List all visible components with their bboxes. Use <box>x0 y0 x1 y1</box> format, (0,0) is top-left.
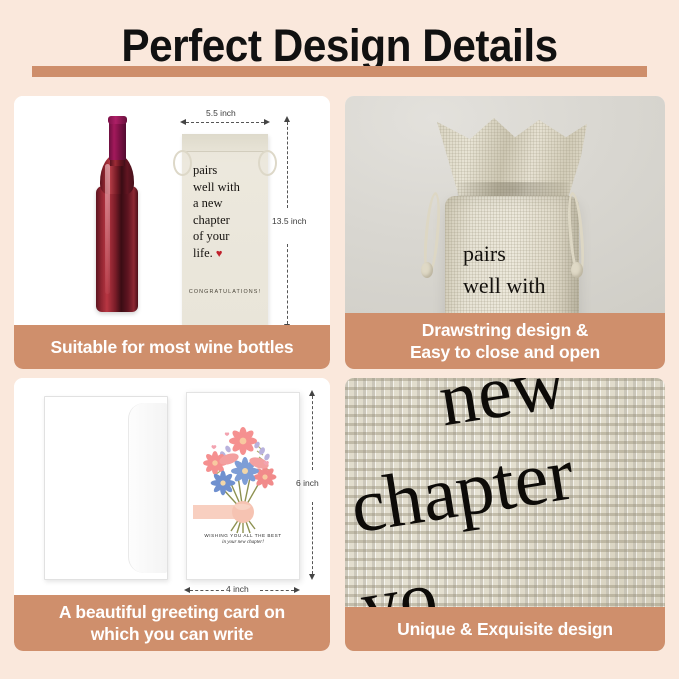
bag-printed-text: pairs well with a new chapter of your li… <box>193 162 260 262</box>
card-width-dimension-label: 4 inch <box>226 584 249 594</box>
card-height-dimension-label: 6 inch <box>296 478 319 488</box>
caption-line-1: Unique & Exquisite design <box>397 618 613 640</box>
card-height-dimension-line-upper <box>312 396 314 470</box>
bottle-body <box>96 186 138 312</box>
width-arrow-left-icon <box>180 119 186 125</box>
bag-text-line-2: well with <box>193 179 260 196</box>
floral-greeting-card: WISHING YOU ALL THE BEST in your new cha… <box>186 392 300 580</box>
height-dimension-line-lower <box>287 244 289 324</box>
linen-wine-bag-flat: pairs well with a new chapter of your li… <box>182 134 268 326</box>
panel-fabric-macro[interactable]: new chapter yo Unique & Exquisite design <box>345 378 665 651</box>
caption-line-1: Suitable for most wine bottles <box>51 336 294 358</box>
card-height-dimension-line-lower <box>312 502 314 574</box>
card-message-line-2: in your new chapter! <box>187 540 299 545</box>
height-dimension-label: 13.5 inch <box>272 216 307 226</box>
bag-text-line-3: a new <box>193 195 260 212</box>
card-width-dimension-line-left <box>190 590 224 592</box>
panel-greeting-card[interactable]: WISHING YOU ALL THE BEST in your new cha… <box>14 378 330 651</box>
drawstring-knot-left-icon <box>421 262 433 278</box>
bag-text-line-6-word: life. <box>193 246 213 260</box>
width-dimension-label: 5.5 inch <box>206 108 236 118</box>
width-dimension-line <box>186 122 264 124</box>
card-width-arrow-right-icon <box>294 587 300 593</box>
page-header: Perfect Design Details <box>0 0 679 88</box>
panel-caption-drawstring: Drawstring design & Easy to close and op… <box>345 313 665 369</box>
card-message-line-1: WISHING YOU ALL THE BEST <box>187 533 299 538</box>
card-height-arrow-down-icon <box>309 574 315 580</box>
card-message: WISHING YOU ALL THE BEST in your new cha… <box>187 533 299 545</box>
bag-congratulations-text: CONGRATULATIONS! <box>182 289 268 295</box>
flower-bouquet-illustration <box>193 415 293 535</box>
bag-text-line-4: chapter <box>193 212 260 229</box>
page-title: Perfect Design Details <box>20 20 658 72</box>
panel-drawstring-closeup[interactable]: pairs well with a new Drawstring design … <box>345 96 665 369</box>
bottle-highlight <box>105 164 110 294</box>
bottle-cap-lip <box>108 116 127 124</box>
height-arrow-up-icon <box>284 116 290 122</box>
drawstring-cord-left-icon <box>173 150 192 176</box>
drawstring-cord-right-icon <box>258 150 277 176</box>
blank-envelope <box>44 396 168 580</box>
bag-text-line-6: life. ♥ <box>193 245 260 263</box>
bag-hem <box>182 134 268 152</box>
caption-line-2: Easy to close and open <box>410 341 600 363</box>
card-height-arrow-up-icon <box>309 390 315 396</box>
panel-wine-bag-dimensions[interactable]: pairs well with a new chapter of your li… <box>14 96 330 369</box>
photo-text-line-1: pairs <box>463 238 583 270</box>
height-dimension-line-upper <box>287 122 289 208</box>
envelope-flap <box>128 403 167 573</box>
card-width-arrow-left-icon <box>184 587 190 593</box>
caption-line-1: A beautiful greeting card on <box>59 601 285 623</box>
panel-caption-greeting-card: A beautiful greeting card on which you c… <box>14 595 330 651</box>
wine-bottle-icon <box>96 116 138 312</box>
panel-caption-suitable-bottles: Suitable for most wine bottles <box>14 325 330 369</box>
bag-text-line-5: of your <box>193 228 260 245</box>
heart-icon: ♥ <box>216 248 223 260</box>
caption-line-1: Drawstring design & <box>410 319 600 341</box>
photo-text-line-2: well with <box>463 270 583 302</box>
bottle-capsule <box>109 118 126 160</box>
card-width-dimension-line-right <box>260 590 294 592</box>
width-arrow-right-icon <box>264 119 270 125</box>
title-underline-bar <box>32 66 647 77</box>
panel-caption-unique-design: Unique & Exquisite design <box>345 607 665 651</box>
feature-panel-grid: pairs well with a new chapter of your li… <box>0 88 679 666</box>
caption-line-2: which you can write <box>59 623 285 645</box>
macro-text-line-2: chapter <box>345 425 580 557</box>
bag-text-line-1: pairs <box>193 162 260 179</box>
